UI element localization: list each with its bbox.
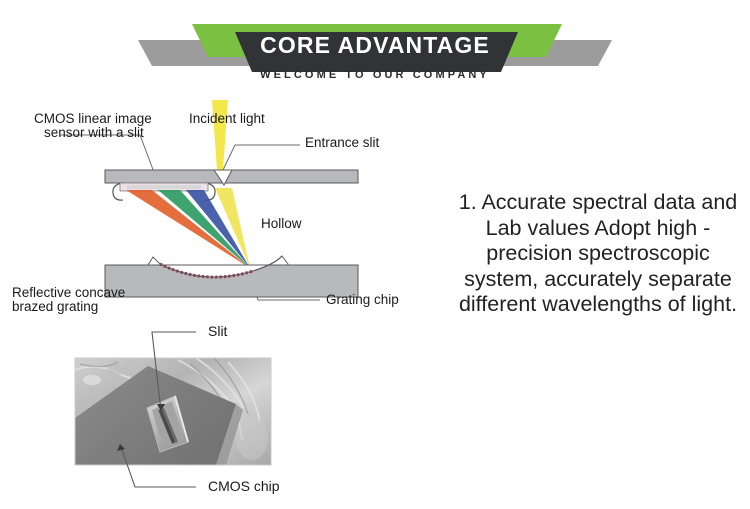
feature-description-text: 1. Accurate spectral data and Lab values… [452,190,744,318]
label-incident-light: Incident light [189,112,265,127]
top-housing-left [105,170,223,183]
header-banner: CORE ADVANTAGE WELCOME TO OUR COMPANY [0,0,750,100]
banner-subtitle: WELCOME TO OUR COMPANY [0,69,750,81]
top-housing-right [223,170,358,183]
leader-line-entrance-slit [222,145,300,172]
cmos-sensor-active-area [127,185,201,189]
micrograph-image [75,358,271,465]
label-cmos-sensor-line1: CMOS linear image [34,111,152,126]
label-reflective-grating-2: brazed grating [12,300,98,315]
slide-page: CORE ADVANTAGE WELCOME TO OUR COMPANY [0,0,750,509]
label-cmos-sensor-2: sensor with a slit [44,126,144,141]
label-slit: Slit [208,323,227,339]
banner-title: CORE ADVANTAGE [0,32,750,59]
spectrometer-diagram: CMOS linear image sensor with a slit Inc… [0,100,440,330]
label-grating-chip: Grating chip [326,293,399,308]
leader-line-cmos [60,135,155,175]
label-reflective-grating-line1: Reflective concave [12,285,125,300]
label-cmos-chip: CMOS chip [208,478,280,494]
label-hollow: Hollow [261,217,302,232]
label-cmos-sensor-line2: sensor with a slit [44,125,144,140]
cmos-chip-photo-block: Slit CMOS chip [0,318,440,509]
label-entrance-slit: Entrance slit [305,136,379,151]
label-reflective-grating-line2: brazed grating [12,299,98,314]
